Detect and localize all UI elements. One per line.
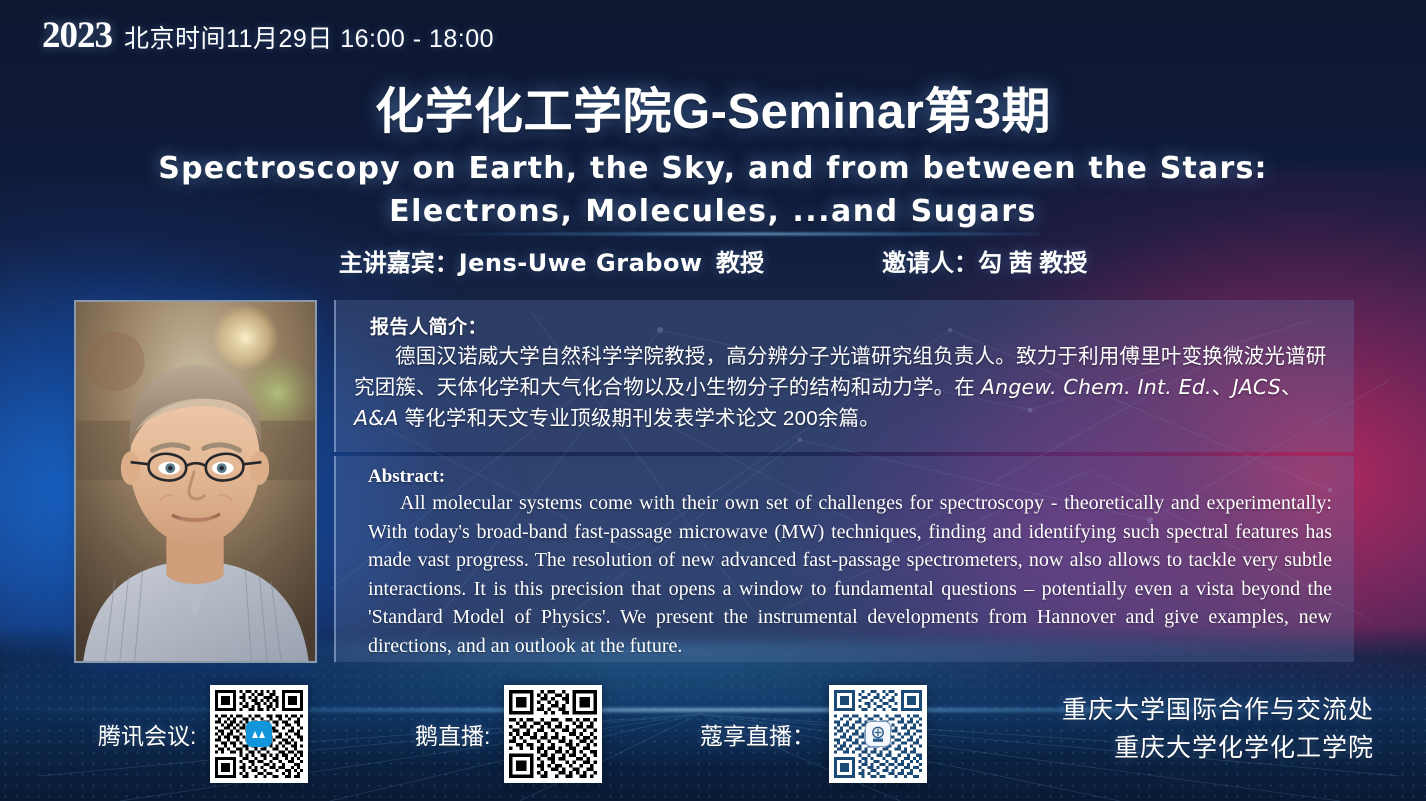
year-label: 2023: [42, 14, 112, 57]
bio-sep-2: 、: [1281, 376, 1302, 399]
bio-journal-2: JACS: [1232, 375, 1281, 399]
people-row: 主讲嘉宾：Jens-Uwe Grabow 教授 邀请人：勾 茜 教授: [0, 243, 1426, 278]
seminar-poster: 2023 北京时间11月29日 16:00 - 18:00 化学化工学院G-Se…: [0, 0, 1426, 801]
qr-wrap-koushare-live[interactable]: [829, 685, 927, 783]
abstract-heading: Abstract:: [368, 466, 1336, 488]
datetime-label: 北京时间11月29日 16:00 - 18:00: [124, 19, 494, 55]
subtitle-line-2: Electrons, Molecules, ...and Sugars: [0, 190, 1426, 233]
bio-sep-1: 、: [1212, 376, 1233, 399]
speaker-portrait-illustration: [76, 302, 315, 661]
abstract-text: All molecular systems come with their ow…: [354, 489, 1336, 660]
bio-journal-1: Angew. Chem. Int. Ed.: [981, 375, 1212, 399]
subtitle: Spectroscopy on Earth, the Sky, and from…: [0, 147, 1426, 233]
qr-block-goose-live[interactable]: 鹅直播:: [415, 685, 602, 783]
qr-block-tencent-meeting[interactable]: 腾讯会议:: [98, 685, 308, 783]
koushare-logo-icon: [865, 721, 891, 747]
speaker-photo: [74, 300, 317, 663]
speaker-title: 教授: [716, 250, 764, 277]
qr-code-goose-live[interactable]: [504, 685, 602, 783]
speaker-bio-panel: 报告人简介： 德国汉诺威大学自然科学学院教授，高分辨分子光谱研究组负责人。致力于…: [334, 300, 1354, 452]
bio-text-part2: 等化学和天文专业顶级期刊发表学术论文 200余篇。: [399, 407, 880, 430]
koushare-glyph: [869, 725, 887, 743]
speaker-label: 主讲嘉宾：: [339, 250, 459, 277]
host-name: 勾 茜: [978, 250, 1033, 277]
qr-label-tencent-meeting: 腾讯会议:: [98, 717, 196, 751]
speaker-block: 主讲嘉宾：Jens-Uwe Grabow 教授: [339, 243, 764, 278]
tencent-meeting-logo-icon: [246, 721, 272, 747]
qr-block-koushare-live[interactable]: 蔻享直播：: [700, 685, 927, 783]
qr-label-koushare-live: 蔻享直播：: [700, 717, 815, 751]
speaker-name: Jens-Uwe Grabow: [459, 249, 703, 277]
qr-wrap-tencent-meeting[interactable]: [210, 685, 308, 783]
qr-image-goose-live: [509, 690, 597, 778]
date-row: 2023 北京时间11月29日 16:00 - 18:00: [42, 14, 494, 57]
subtitle-line-1: Spectroscopy on Earth, the Sky, and from…: [0, 147, 1426, 190]
organization-block: 重庆大学国际合作与交流处 重庆大学化学化工学院: [1062, 691, 1374, 767]
host-block: 邀请人：勾 茜 教授: [882, 243, 1087, 278]
bio-journal-3: A&A: [354, 406, 399, 430]
organization-line-2: 重庆大学化学化工学院: [1062, 729, 1374, 767]
host-label: 邀请人：: [882, 250, 978, 277]
qr-label-goose-live: 鹅直播:: [415, 717, 490, 751]
abstract-panel: Abstract: All molecular systems come wit…: [334, 456, 1354, 662]
page-title: 化学化工学院G-Seminar第3期: [0, 72, 1426, 143]
qr-wrap-goose-live[interactable]: [504, 685, 602, 783]
tencent-meeting-glyph: [251, 729, 267, 740]
bio-heading: 报告人简介：: [370, 312, 1336, 339]
organization-line-1: 重庆大学国际合作与交流处: [1062, 691, 1374, 729]
host-title: 教授: [1039, 250, 1087, 277]
bio-text: 德国汉诺威大学自然科学学院教授，高分辨分子光谱研究组负责人。致力于利用傅里叶变换…: [354, 342, 1336, 434]
